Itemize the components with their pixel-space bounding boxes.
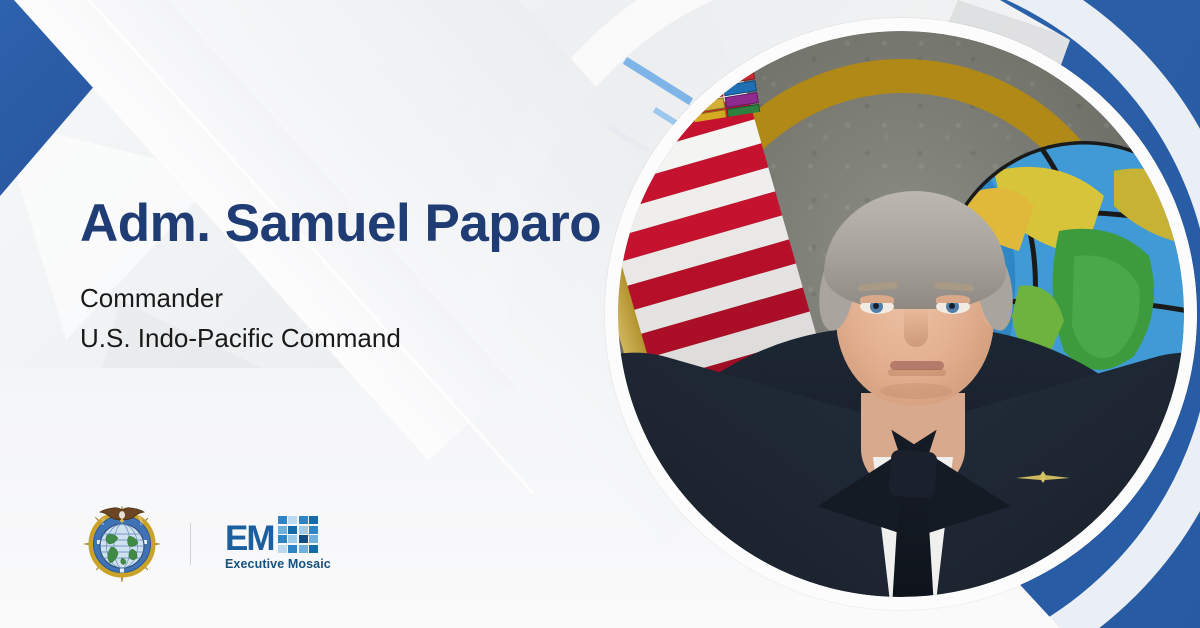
- em-letters: EM: [225, 524, 274, 554]
- necktie-knot: [888, 449, 937, 498]
- em-brand-name: Executive Mosaic: [225, 557, 343, 571]
- eyelid-right: [936, 295, 970, 303]
- indopacom-seal-svg: U.S. INDO-PACIFIC COMMAND: [80, 502, 164, 586]
- pupil-left: [873, 303, 879, 309]
- executive-mosaic-logo: EM Executive Mosaic: [225, 518, 343, 571]
- chin-shadow: [880, 383, 952, 399]
- nose: [904, 303, 928, 347]
- pupil-right: [949, 303, 955, 309]
- subject-organization: U.S. Indo-Pacific Command: [80, 318, 601, 358]
- subject-title: Commander: [80, 278, 601, 318]
- mouth-shadow: [888, 369, 946, 376]
- indopacom-seal-icon: U.S. INDO-PACIFIC COMMAND: [80, 502, 164, 586]
- social-card: Adm. Samuel Paparo Commander U.S. Indo-P…: [0, 0, 1200, 628]
- mosaic-grid-icon: [278, 516, 319, 553]
- aviator-wings-icon: [1016, 469, 1070, 485]
- text-block: Adm. Samuel Paparo Commander U.S. Indo-P…: [80, 196, 601, 358]
- portrait-image: [618, 31, 1184, 597]
- page-title: Adm. Samuel Paparo: [80, 196, 601, 252]
- eyelid-left: [860, 295, 894, 303]
- portrait-photo: [605, 18, 1197, 610]
- logo-divider: [190, 523, 191, 565]
- footer-logos: U.S. INDO-PACIFIC COMMAND EM: [80, 502, 343, 586]
